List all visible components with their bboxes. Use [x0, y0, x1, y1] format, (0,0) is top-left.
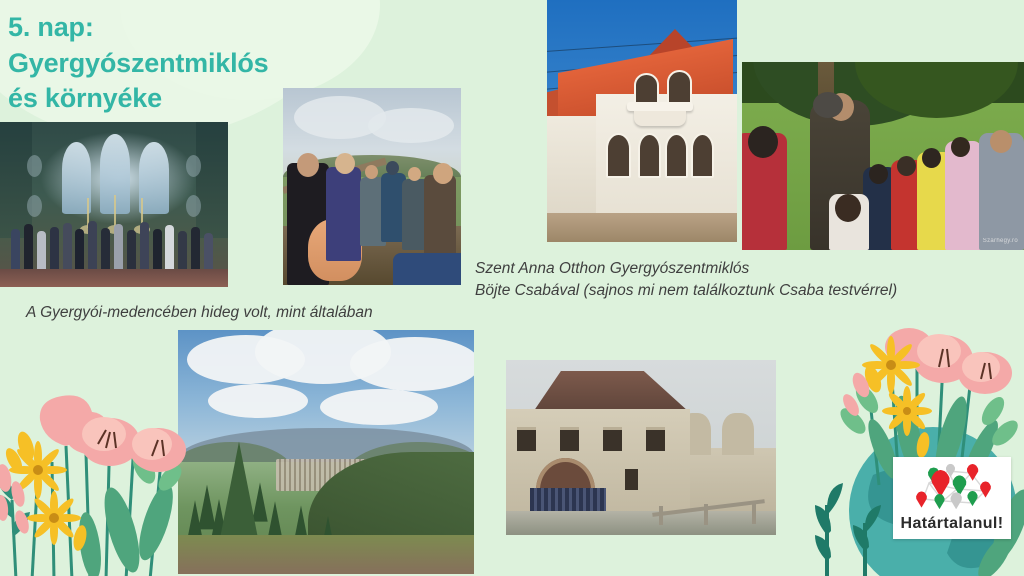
cart-person-3-head — [365, 165, 378, 179]
page-title-line-1: 5. nap: — [8, 10, 408, 46]
photo-watermark: Szárhegy.ro — [983, 238, 1018, 244]
castle-window-4 — [646, 427, 665, 451]
csaba-child-3-head — [951, 137, 970, 157]
csaba-friar-hair — [813, 92, 843, 118]
valley-cloud-3 — [350, 337, 474, 391]
caption-right-line-2: Böjte Csabával (sajnos mi nem találkoztu… — [475, 280, 897, 302]
cart-person-2-head — [335, 153, 355, 174]
building-window-lower-1 — [606, 133, 631, 178]
cart-person-2 — [326, 167, 362, 262]
castle-window-small — [625, 469, 639, 490]
photo-church-interior-group — [0, 122, 228, 287]
building-left-wing — [547, 116, 600, 227]
valley-cloud-5 — [320, 389, 438, 426]
photo-lazar-castle — [506, 360, 776, 535]
valley-meadow — [178, 535, 474, 574]
church-crowd — [7, 211, 221, 270]
logo-pin-network — [893, 461, 1011, 507]
csaba-child-3 — [945, 141, 982, 250]
photo-bojte-csaba-with-children: Szárhegy.ro — [742, 62, 1024, 250]
photo-valley-landscape — [178, 330, 474, 574]
church-floor — [0, 269, 228, 287]
csaba-child-2-head — [897, 156, 916, 176]
hatartalanul-logo: Határtalanul! — [893, 457, 1011, 539]
building-ground — [547, 213, 737, 242]
cart-cloud-2 — [368, 108, 453, 143]
building-window-upper-right — [667, 70, 692, 105]
caption-right: Szent Anna Otthon Gyergyószentmiklós Böj… — [475, 258, 897, 303]
castle-tower-right — [722, 413, 754, 455]
caption-left: A Gyergyói-medencében hideg volt, mint á… — [26, 302, 373, 324]
building-window-lower-4 — [691, 133, 714, 178]
caption-right-line-1: Szent Anna Otthon Gyergyószentmiklós — [475, 258, 897, 280]
valley-tall-tree — [220, 442, 260, 543]
building-window-lower-3 — [665, 133, 688, 178]
logo-text: Határtalanul! — [893, 515, 1011, 533]
castle-window-2 — [560, 427, 579, 451]
csaba-adult-right-head — [990, 130, 1012, 153]
csaba-child-front-head — [835, 194, 861, 222]
castle-window-1 — [517, 427, 536, 451]
cart-person-6-head — [433, 163, 453, 184]
photo-group-on-cart — [283, 88, 461, 285]
slide-canvas: 5. nap: Gyergyószentmiklós és környéke — [0, 0, 1024, 576]
building-window-lower-2 — [638, 133, 661, 178]
csaba-child-red-dress-head — [748, 126, 778, 158]
church-window-right — [139, 142, 169, 215]
castle-fence — [652, 497, 765, 529]
cart-person-jeans — [393, 253, 461, 285]
castle-window-3 — [603, 427, 622, 451]
building-balcony-rail — [627, 102, 694, 112]
valley-pine-7 — [198, 485, 216, 530]
building-balcony-slab — [634, 111, 685, 126]
church-medallion-3 — [186, 155, 201, 177]
page-title-line-2: Gyergyószentmiklós — [8, 46, 408, 82]
floral-decoration-left — [0, 350, 199, 576]
csaba-child-1-head — [869, 164, 888, 184]
photo-white-building — [547, 0, 737, 242]
cart-person-5-head — [408, 167, 421, 181]
valley-cloud-4 — [208, 384, 309, 418]
